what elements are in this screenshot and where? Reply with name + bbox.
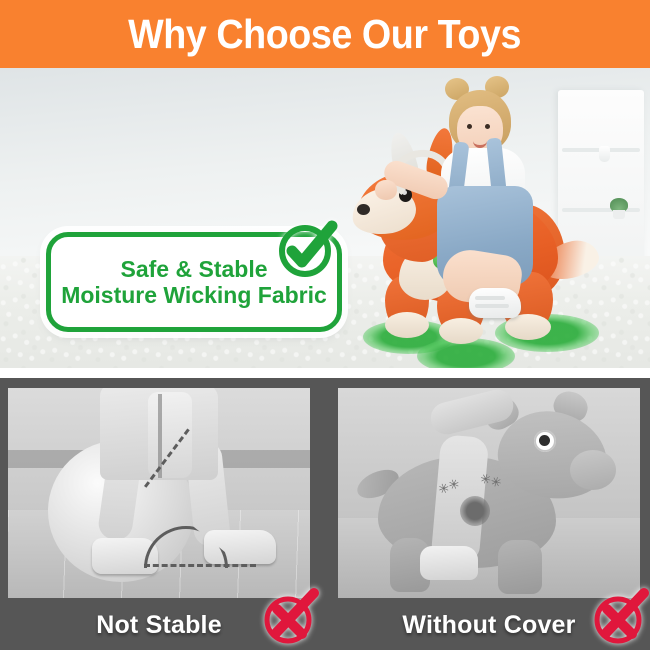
bare-rubber-toy-photo: ✳✳ ✳✳ [338,388,640,598]
child-shoe [469,288,521,318]
fox-paw [385,312,429,338]
hopper-ball-photo [8,388,310,598]
check-circle-icon [276,218,338,280]
caption-text: Without Cover [402,611,575,640]
comparison-panel-not-stable [8,388,310,598]
child-eye [467,124,472,129]
toy-eye [534,430,556,452]
badge-line-2: Moisture Wicking Fabric [61,282,327,308]
plant-decor [610,198,628,212]
product-infographic: Why Choose Our Toys [0,0,650,650]
fox-ride-on-toy-scene [355,76,610,368]
child-rider [427,76,567,300]
fox-paw [439,318,483,344]
toy-leg [498,540,542,594]
child-shoe [420,546,478,580]
page-title: Why Choose Our Toys [129,14,522,55]
irritation-indicator [460,496,490,526]
cross-circle-icon [592,588,650,646]
caption-text: Not Stable [96,611,222,640]
cross-circle-icon [262,588,320,646]
comparison-panel-without-cover: ✳✳ ✳✳ [338,388,640,598]
child-hand [375,180,397,200]
toy-snout [570,450,616,490]
child-eye [485,124,490,129]
hero-photo: Safe & Stable Moisture Wicking Fabric [0,68,650,368]
fox-nose [357,204,370,215]
header-banner: Why Choose Our Toys [0,0,650,68]
badge-line-1: Safe & Stable [121,256,268,282]
